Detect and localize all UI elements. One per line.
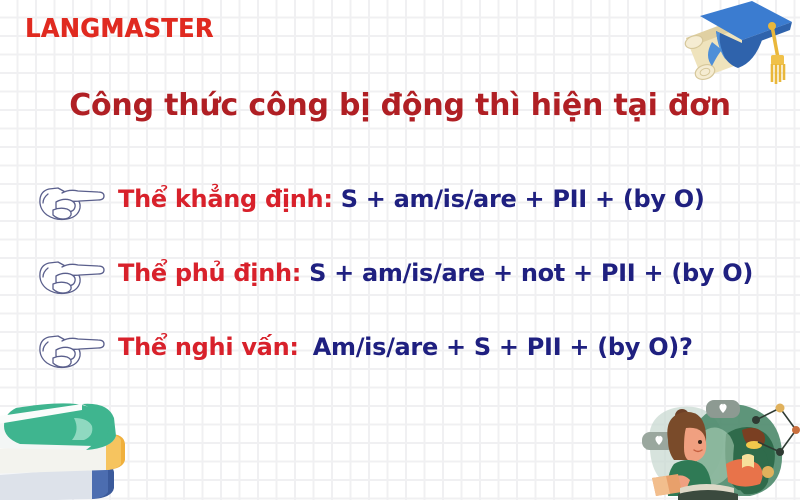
formula-label: Thể nghi vấn: [118, 333, 299, 361]
formula-row: Thể phủ định: S + am/is/are + not + PII … [0, 236, 800, 310]
formula-list: Thể khẳng định: S + am/is/are + PII + (b… [0, 162, 800, 384]
students-reading-illustration [630, 390, 800, 500]
graduation-cap-icon [660, 0, 800, 100]
formula-body: Am/is/are + S + PII + (by O)? [305, 333, 693, 361]
stacked-books-icon [0, 392, 176, 500]
pointing-hand-icon [36, 250, 106, 296]
formula-text: Thể nghi vấn: Am/is/are + S + PII + (by … [118, 333, 693, 361]
pointing-hand-icon [36, 324, 106, 370]
formula-text: Thể phủ định: S + am/is/are + not + PII … [118, 259, 753, 287]
formula-row: Thể nghi vấn: Am/is/are + S + PII + (by … [0, 310, 800, 384]
formula-body: S + am/is/are + not + PII + (by O) [301, 259, 753, 287]
slide-canvas: LANGMASTER Công thức công bị động thì hi… [0, 0, 800, 500]
formula-row: Thể khẳng định: S + am/is/are + PII + (b… [0, 162, 800, 236]
formula-body: S + am/is/are + PII + (by O) [333, 185, 705, 213]
langmaster-logo: LANGMASTER [25, 14, 214, 44]
formula-text: Thể khẳng định: S + am/is/are + PII + (b… [118, 185, 705, 213]
formula-label: Thể phủ định: [118, 259, 301, 287]
pointing-hand-icon [36, 176, 106, 222]
page-title: Công thức công bị động thì hiện tại đơn [0, 88, 800, 123]
formula-label: Thể khẳng định: [118, 185, 333, 213]
